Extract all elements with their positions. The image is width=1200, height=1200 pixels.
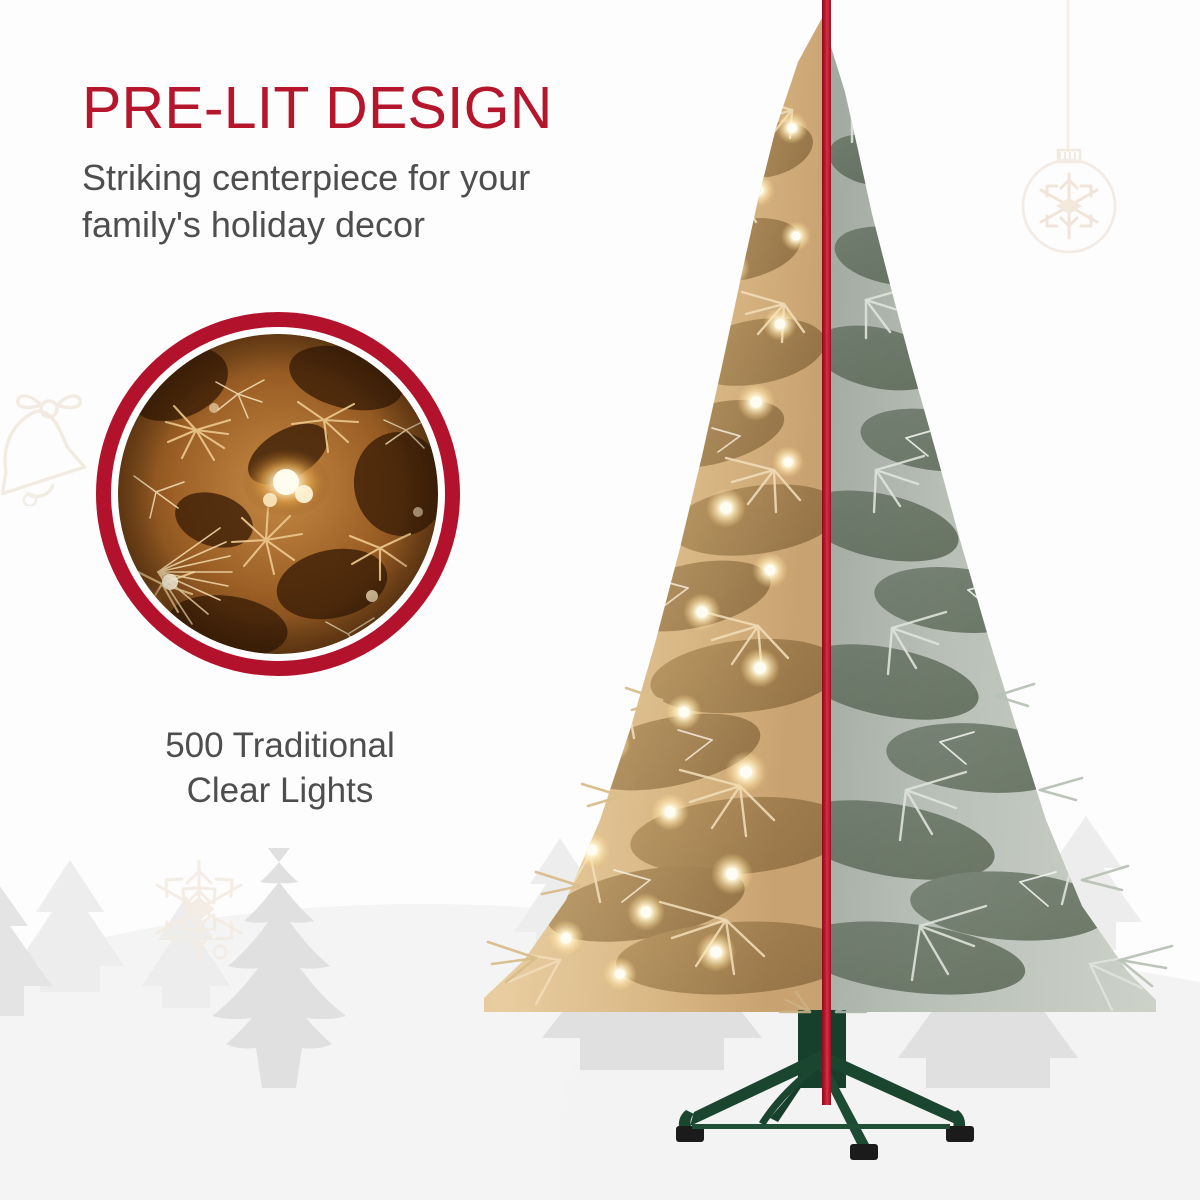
caption-line-2: Clear Lights [187, 771, 374, 810]
inset-caption: 500 Traditional Clear Lights [60, 724, 500, 814]
hero-product-image [440, 0, 1200, 1200]
split-divider-line [822, 0, 831, 1105]
inset-red-ring [96, 312, 460, 676]
banner-canvas: PRE-LIT DESIGN Striking centerpiece for … [0, 0, 1200, 1200]
subtitle-line-2: family's holiday decor [82, 204, 425, 245]
feature-inset [96, 312, 460, 676]
christmas-tree-illustration [440, 0, 1200, 1200]
caption-line-1: 500 Traditional [165, 726, 395, 765]
